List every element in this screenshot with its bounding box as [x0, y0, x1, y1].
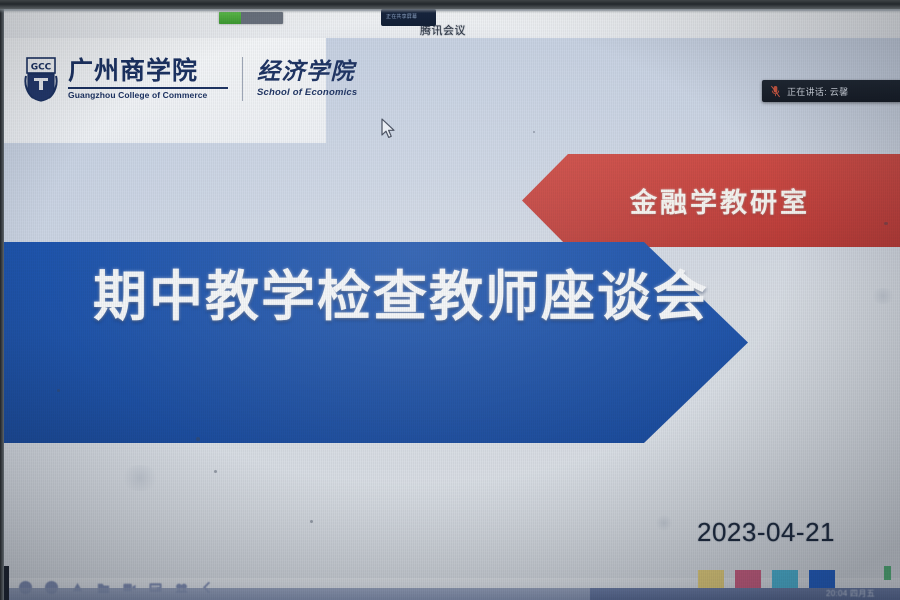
taskbar-clock[interactable]: 20:04 四月五 [826, 588, 875, 599]
gcc-crest-icon: GCC [24, 56, 58, 102]
upload-progress-bar [219, 12, 283, 24]
department-banner-label: 金融学教研室 [630, 181, 810, 220]
upload-progress-fill [219, 12, 241, 24]
school-name-block: 经济学院 School of Economics [257, 60, 357, 98]
university-name-block: 广州商学院 Guangzhou College of Commerce [68, 58, 228, 99]
screen-left-bezel [0, 9, 4, 600]
screen-top-bezel [0, 0, 900, 9]
speaking-indicator-label: 正在讲话: 云馨 [787, 85, 848, 98]
slide-date: 2023-04-21 [697, 517, 835, 548]
screen-top-shadow [0, 9, 900, 13]
logo-divider-rule [68, 87, 228, 89]
school-name-cn: 经济学院 [257, 60, 357, 85]
svg-text:GCC: GCC [31, 63, 52, 73]
university-name-en: Guangzhou College of Commerce [68, 90, 228, 100]
microphone-muted-icon [770, 85, 781, 98]
slide-title: 期中教学检查教师座谈会 [93, 252, 709, 331]
logo-vertical-divider [242, 57, 243, 101]
taskbar-status-indicator [884, 566, 891, 580]
university-logo: GCC 广州商学院 Guangzhou College of Commerce … [24, 56, 357, 102]
school-name-en: School of Economics [257, 87, 357, 98]
speaking-indicator: 正在讲话: 云馨 [762, 80, 900, 102]
projector-screen-photo: 腾讯会议 正在共享屏幕 正在讲话: 云馨 GCC 广州 [0, 0, 900, 600]
mouse-cursor-icon [381, 118, 397, 140]
university-name-cn: 广州商学院 [68, 58, 228, 84]
screen-share-tab-label: 正在共享屏幕 [386, 13, 417, 20]
taskbar-tray-left [0, 588, 595, 600]
